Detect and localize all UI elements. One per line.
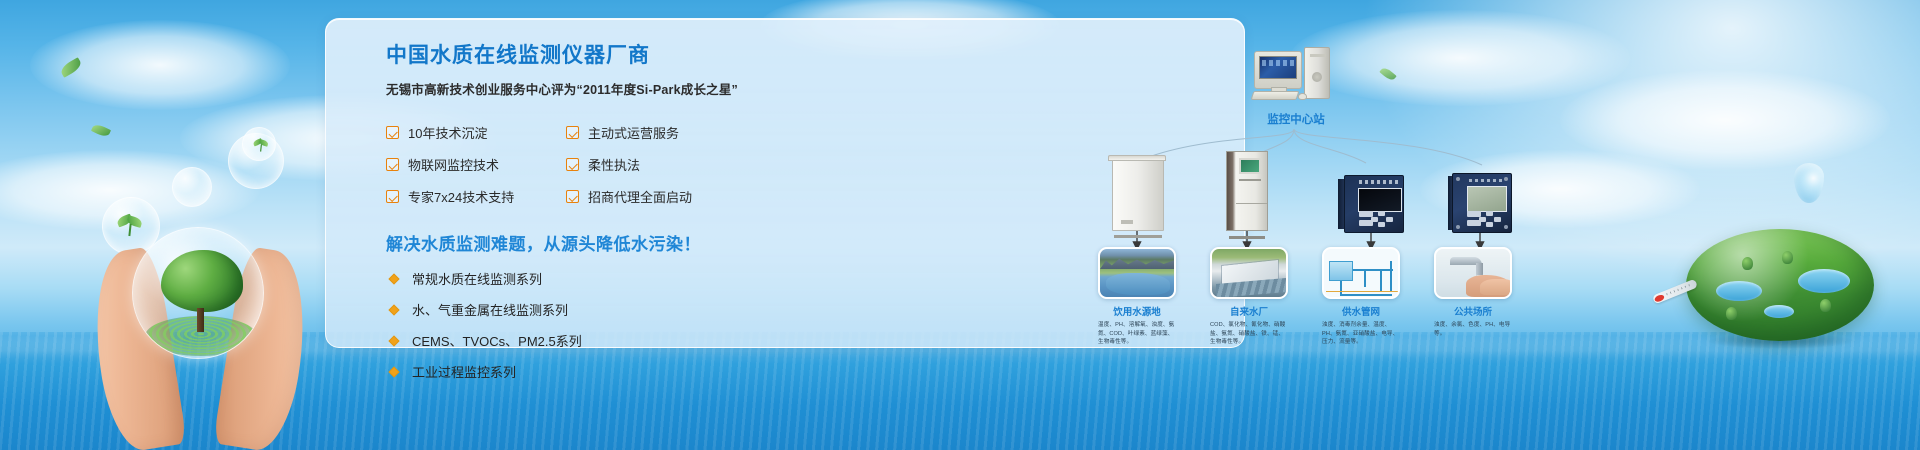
tree-canopy [161, 250, 243, 312]
content-panel: 中国水质在线监测仪器厂商 无锡市高新技术创业服务中心评为“2011年度Si-Pa… [325, 18, 1245, 348]
drinking-water-source-photo [1098, 247, 1176, 299]
screw-icon [1504, 225, 1508, 229]
scenario-parameters: 浊度、余氯、色度、PH、电导等。 [1434, 321, 1512, 338]
list-item[interactable]: 常规水质在线监测系列 [386, 269, 806, 288]
scenario-caption: 饮用水源地 [1098, 304, 1176, 318]
monitor-icon [1254, 51, 1302, 89]
feature-label: 10年技术沉淀 [408, 123, 487, 142]
pc-tower-icon [1304, 47, 1330, 99]
product-line-list: 常规水质在线监测系列 水、气重金属在线监测系列 CEMS、TVOCs、PM2.5… [386, 269, 806, 381]
floating-leaf-2 [91, 123, 111, 139]
feature-item: 专家7x24技术支持 [386, 187, 566, 206]
bubble-small-1 [172, 167, 212, 207]
feature-item: 物联网监控技术 [386, 155, 566, 174]
scenario-card[interactable]: 供水管网 浊度、消毒剂余量、温度、PH、氨氮、亚硝酸盐、电导、压力、流量等。 [1322, 247, 1400, 347]
water-droplet-icon [1794, 163, 1824, 203]
monitor-screen [1259, 56, 1297, 79]
scenario-card[interactable]: 自来水厂 COD、氯化物、氰化物、硝酸盐、氨氮、硝酸盐、铁、锰、生物毒性等。 [1210, 247, 1288, 347]
scenario-parameters: 浊度、消毒剂余量、温度、PH、氨氮、亚硝酸盐、电导、压力、流量等。 [1322, 321, 1400, 347]
product-line-label: 工业过程监控系列 [412, 362, 516, 381]
slogan-heading: 解决水质监测难题，从源头降低水污染！ [386, 230, 806, 255]
transmitter-dpad [1479, 211, 1501, 227]
water-controller-device [1338, 175, 1404, 235]
checkbox-checked-icon [566, 126, 579, 139]
green-globe-artwork [1662, 215, 1892, 375]
scenario-card[interactable]: 公共场所 浊度、余氯、色度、PH、电导等。 [1434, 247, 1512, 338]
scenario-caption: 供水管网 [1322, 304, 1400, 318]
feature-label: 柔性执法 [588, 155, 640, 174]
transmitter-brand-mark [1469, 179, 1505, 182]
screw-icon [1456, 177, 1460, 181]
controller-brand-mark [1359, 180, 1401, 184]
diamond-bullet-icon [388, 273, 399, 284]
cloud-5 [1560, 70, 1890, 170]
checkbox-checked-icon [386, 126, 399, 139]
globe-tree-2 [1782, 251, 1793, 264]
page-title: 中国水质在线监测仪器厂商 [386, 41, 806, 71]
feature-item: 招商代理全面启动 [566, 187, 746, 206]
panel-text-column: 中国水质在线监测仪器厂商 无锡市高新技术创业服务中心评为“2011年度Si-Pa… [386, 41, 806, 393]
globe-lake-1 [1716, 281, 1762, 301]
list-item[interactable]: 水、气重金属在线监测系列 [386, 300, 806, 319]
checkbox-checked-icon [386, 190, 399, 203]
checkbox-checked-icon [386, 158, 399, 171]
water-transmitter-device [1448, 173, 1512, 235]
feature-item: 主动式运营服务 [566, 123, 746, 142]
water-analyzer-device [1226, 151, 1268, 235]
scenario-parameters: COD、氯化物、氰化物、硝酸盐、氨氮、硝酸盐、铁、锰、生物毒性等。 [1210, 321, 1288, 347]
hands-tree-artwork [60, 175, 350, 450]
screw-icon [1456, 225, 1460, 229]
globe-tree-1 [1742, 257, 1753, 270]
product-line-label: 水、气重金属在线监测系列 [412, 300, 568, 319]
screw-icon [1504, 177, 1508, 181]
scenario-card-row: 饮用水源地 温度、PH、溶解氧、浊度、氨氮、COD、叶绿素、蓝绿藻、生物毒性等。… [1086, 247, 1546, 347]
scenario-caption: 公共场所 [1434, 304, 1512, 318]
list-item[interactable]: 工业过程监控系列 [386, 362, 806, 381]
globe-lake-3 [1764, 305, 1794, 318]
feature-label: 主动式运营服务 [588, 123, 679, 142]
sprout-icon-2 [253, 140, 269, 151]
floating-leaf-1 [59, 57, 84, 78]
globe-tree-3 [1820, 299, 1831, 312]
scenario-caption: 自来水厂 [1210, 304, 1288, 318]
globe-tree-4 [1726, 307, 1737, 320]
analyzer-screen [1239, 158, 1261, 174]
controller-dpad [1371, 211, 1393, 227]
water-plant-photo [1210, 247, 1288, 299]
water-cabinet-device [1108, 155, 1166, 235]
globe-lake-2 [1798, 269, 1850, 293]
sprout-icon [117, 216, 143, 234]
diamond-bullet-icon [388, 335, 399, 346]
feature-item: 柔性执法 [566, 155, 746, 174]
device-row [1086, 147, 1546, 235]
green-globe [1686, 229, 1874, 341]
product-line-label: 常规水质在线监测系列 [412, 269, 542, 288]
tree-trunk [197, 308, 204, 332]
bubble-sprout-2 [242, 127, 276, 161]
transmitter-lcd [1467, 186, 1507, 212]
feature-label: 物联网监控技术 [408, 155, 499, 174]
scenario-parameters: 温度、PH、溶解氧、浊度、氨氮、COD、叶绿素、蓝绿藻、生物毒性等。 [1098, 321, 1176, 347]
diamond-bullet-icon [388, 304, 399, 315]
system-topology-diagram: 监控中心站 [1086, 29, 1546, 349]
feature-item: 10年技术沉淀 [386, 123, 566, 142]
keyboard-icon [1251, 91, 1300, 100]
scenario-card[interactable]: 饮用水源地 温度、PH、溶解氧、浊度、氨氮、COD、叶绿素、蓝绿藻、生物毒性等。 [1098, 247, 1176, 347]
main-bubble [132, 227, 264, 359]
feature-label: 专家7x24技术支持 [408, 187, 514, 206]
list-item[interactable]: CEMS、TVOCs、PM2.5系列 [386, 331, 806, 350]
checkbox-checked-icon [566, 190, 579, 203]
page-subtitle: 无锡市高新技术创业服务中心评为“2011年度Si-Park成长之星” [386, 79, 806, 101]
feature-label: 招商代理全面启动 [588, 187, 692, 206]
center-station-label: 监控中心站 [1196, 111, 1396, 127]
diamond-bullet-icon [388, 366, 399, 377]
feature-checklist: 10年技术沉淀 主动式运营服务 物联网监控技术 柔性执法 专家7x24技术支持 … [386, 123, 806, 206]
pipe-network-diagram-photo [1322, 247, 1400, 299]
controller-lcd [1358, 188, 1402, 212]
mouse-icon [1298, 93, 1307, 100]
monitoring-center-computer [1254, 47, 1334, 105]
checkbox-checked-icon [566, 158, 579, 171]
public-place-tap-photo [1434, 247, 1512, 299]
product-line-label: CEMS、TVOCs、PM2.5系列 [412, 331, 582, 350]
